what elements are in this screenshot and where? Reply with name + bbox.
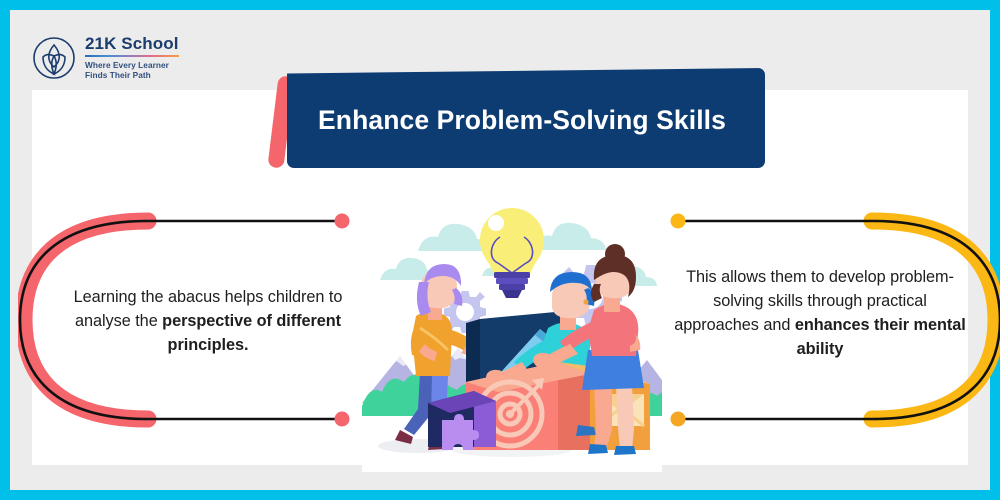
inner-canvas: 21K School Where Every Learner Finds The… [10, 10, 990, 490]
right-paragraph: This allows them to develop problem-solv… [672, 266, 968, 362]
right-paragraph-bold: enhances their mental ability [795, 316, 966, 358]
teamwork-problem-solving-illustration [362, 188, 662, 472]
right-bottom-dot [671, 412, 686, 427]
title-banner: Enhance Problem-Solving Skills [273, 68, 765, 173]
left-bottom-dot [335, 412, 350, 427]
hair-bun [605, 244, 625, 264]
shoe-front [614, 446, 636, 455]
left-paragraph: Learning the abacus helps children to an… [50, 286, 366, 358]
banner-box: Enhance Problem-Solving Skills [287, 68, 765, 168]
page-title: Enhance Problem-Solving Skills [318, 105, 726, 136]
logo-tagline-line1: Where Every Learner [85, 60, 169, 70]
right-top-dot [671, 214, 686, 229]
logo-gradient-rule [85, 55, 179, 58]
left-paragraph-bold: perspective of different principles. [162, 312, 341, 354]
infographic-frame: 21K School Where Every Learner Finds The… [0, 0, 1000, 500]
left-top-dot [335, 214, 350, 229]
logo-tagline-line2: Finds Their Path [85, 70, 151, 80]
lotus-circle-logo-icon [32, 36, 76, 80]
logo-title: 21K School [85, 35, 179, 53]
logo-tagline: Where Every Learner Finds Their Path [85, 60, 179, 81]
lightbulb-icon [480, 208, 544, 298]
brand-logo: 21K School Where Every Learner Finds The… [32, 35, 179, 81]
logo-text-group: 21K School Where Every Learner Finds The… [85, 35, 179, 81]
shoe-back [588, 444, 608, 454]
